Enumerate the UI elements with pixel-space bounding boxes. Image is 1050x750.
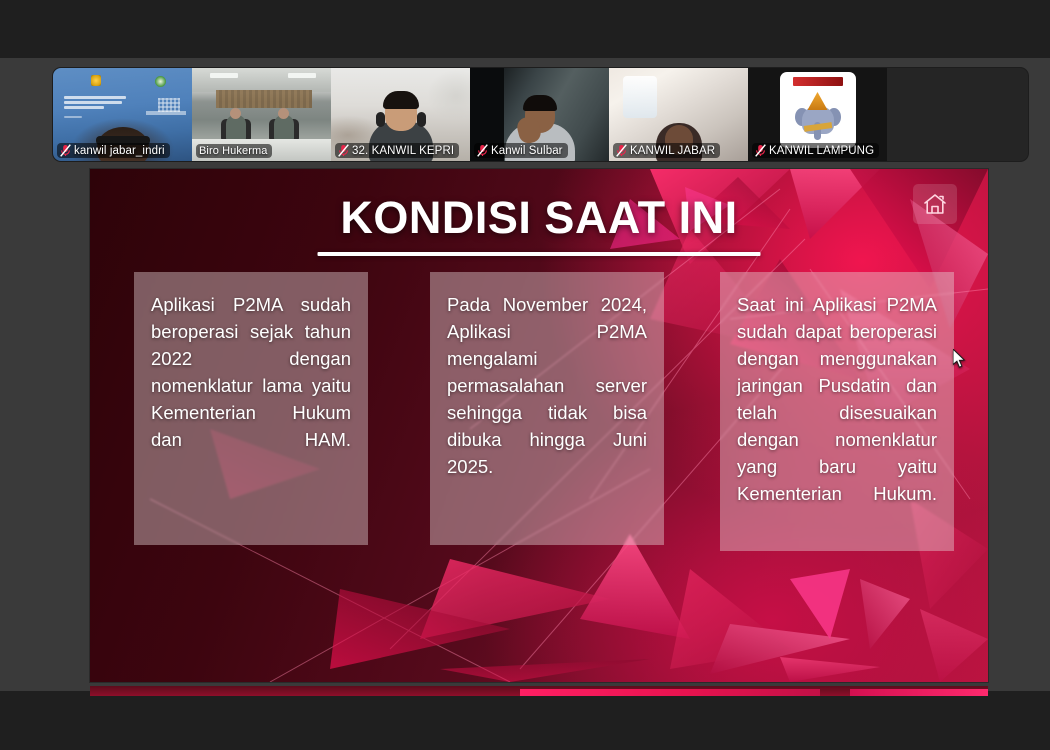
video-tile-kanwil-jabar-indri[interactable]: kanwil jabar_indri — [53, 68, 192, 161]
participant-name: Kanwil Sulbar — [491, 145, 563, 157]
participant-badge: kanwil jabar_indri — [57, 143, 170, 158]
content-box-3: Saat ini Aplikasi P2MA sudah dapat berop… — [720, 272, 954, 551]
participant-badge: Biro Hukerma — [196, 144, 272, 158]
participant-name: kanwil jabar_indri — [74, 145, 165, 157]
content-box-2: Pada November 2024, Aplikasi P2MA mengal… — [430, 272, 664, 545]
video-tile-kanwil-sulbar[interactable]: Kanwil Sulbar — [470, 68, 609, 161]
window-bottom-chrome — [0, 691, 1050, 750]
microphone-muted-icon — [60, 144, 71, 157]
participant-name: Biro Hukerma — [199, 145, 267, 157]
content-box-1-text: Aplikasi P2MA sudah beroperasi sejak tah… — [151, 291, 351, 480]
screen-share-area[interactable]: KONDISI SAAT INI Aplikasi P2MA sudah ber… — [72, 165, 1002, 691]
participant-name: KANWIL JABAR — [630, 145, 715, 157]
slide-content-boxes: Aplikasi P2MA sudah beroperasi sejak tah… — [90, 169, 988, 682]
video-tile-kanwil-lampung[interactable]: KANWIL LAMPUNG — [748, 68, 887, 161]
video-tile-32-kanwil-kepri[interactable]: 32. KANWIL KEPRI — [331, 68, 470, 161]
next-slide-preview[interactable] — [90, 686, 988, 696]
participant-badge: Kanwil Sulbar — [474, 143, 568, 158]
content-box-3-text: Saat ini Aplikasi P2MA sudah dapat berop… — [737, 291, 937, 534]
participant-name: 32. KANWIL KEPRI — [352, 145, 454, 157]
microphone-muted-icon — [755, 144, 766, 157]
microphone-muted-icon — [616, 144, 627, 157]
microphone-muted-icon — [338, 144, 349, 157]
content-box-1: Aplikasi P2MA sudah beroperasi sejak tah… — [134, 272, 368, 545]
participant-badge: KANWIL JABAR — [613, 143, 720, 158]
mouse-cursor — [953, 349, 966, 368]
video-tile-kanwil-jabar[interactable]: KANWIL JABAR — [609, 68, 748, 161]
zoom-meeting-window: kanwil jabar_indri Biro Hukerma — [0, 0, 1050, 750]
participant-filmstrip[interactable]: kanwil jabar_indri Biro Hukerma — [53, 68, 1028, 161]
content-box-2-text: Pada November 2024, Aplikasi P2MA mengal… — [447, 291, 647, 507]
window-top-chrome — [0, 0, 1050, 58]
microphone-muted-icon — [477, 144, 488, 157]
participant-badge: 32. KANWIL KEPRI — [335, 143, 459, 158]
participant-name: KANWIL LAMPUNG — [769, 145, 874, 157]
participant-badge: KANWIL LAMPUNG — [752, 143, 879, 158]
video-tile-biro-hukerma[interactable]: Biro Hukerma — [192, 68, 331, 161]
presentation-slide[interactable]: KONDISI SAAT INI Aplikasi P2MA sudah ber… — [90, 169, 988, 682]
